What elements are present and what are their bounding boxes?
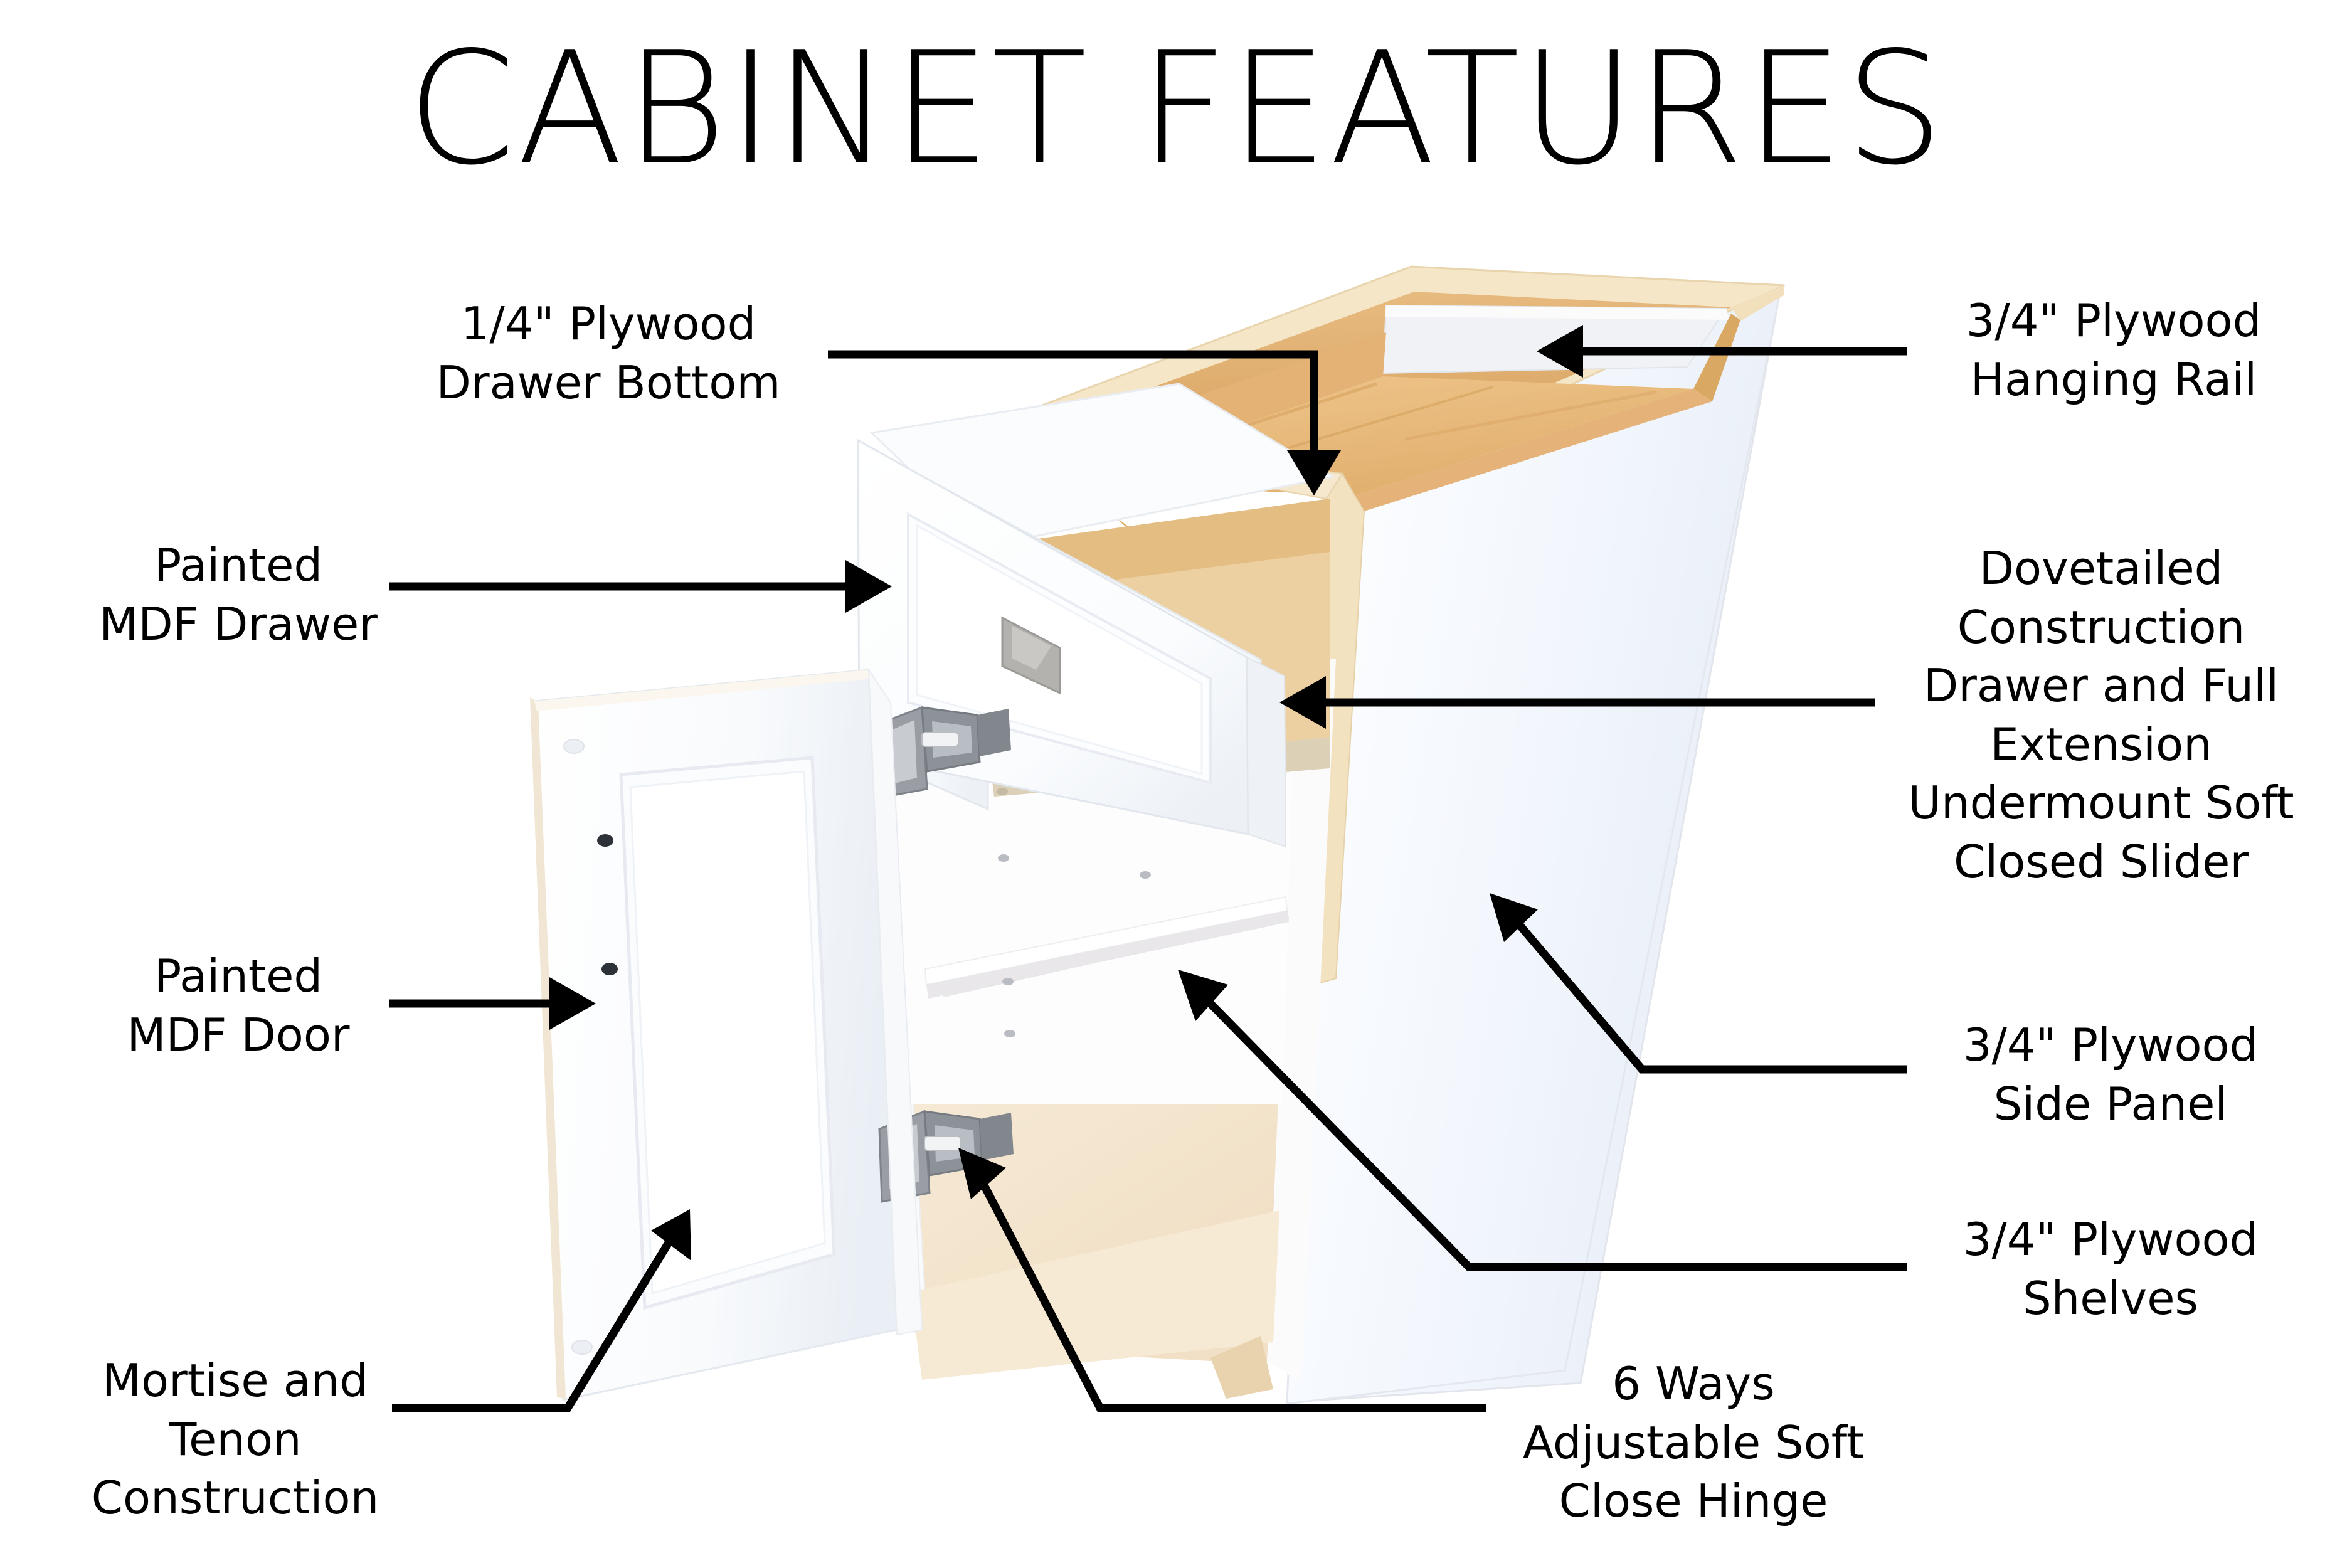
callout-drawer-bottom: 1/4" Plywood Drawer Bottom	[414, 295, 803, 412]
callout-dovetailed-construction: Dovetailed Construction Drawer and Full …	[1882, 539, 2321, 892]
callout-painted-mdf-drawer: Painted MDF Drawer	[82, 536, 395, 654]
callout-shelves: 3/4" Plywood Shelves	[1919, 1210, 2302, 1328]
callout-painted-mdf-door: Painted MDF Door	[100, 947, 376, 1064]
infographic-page: CABINET FEATURES	[0, 0, 2352, 1568]
callout-mortise-and-tenon: Mortise and Tenon Construction	[69, 1352, 401, 1528]
callout-soft-close-hinge: 6 Ways Adjustable Soft Close Hinge	[1499, 1355, 1888, 1531]
door-shaker-panel-inner	[630, 771, 825, 1293]
callout-side-panel: 3/4" Plywood Side Panel	[1919, 1016, 2302, 1133]
cabinet-illustration	[530, 267, 1784, 1404]
drawer-face-right-edge	[1247, 657, 1286, 847]
callout-hanging-rail: 3/4" Plywood Hanging Rail	[1919, 292, 2308, 409]
